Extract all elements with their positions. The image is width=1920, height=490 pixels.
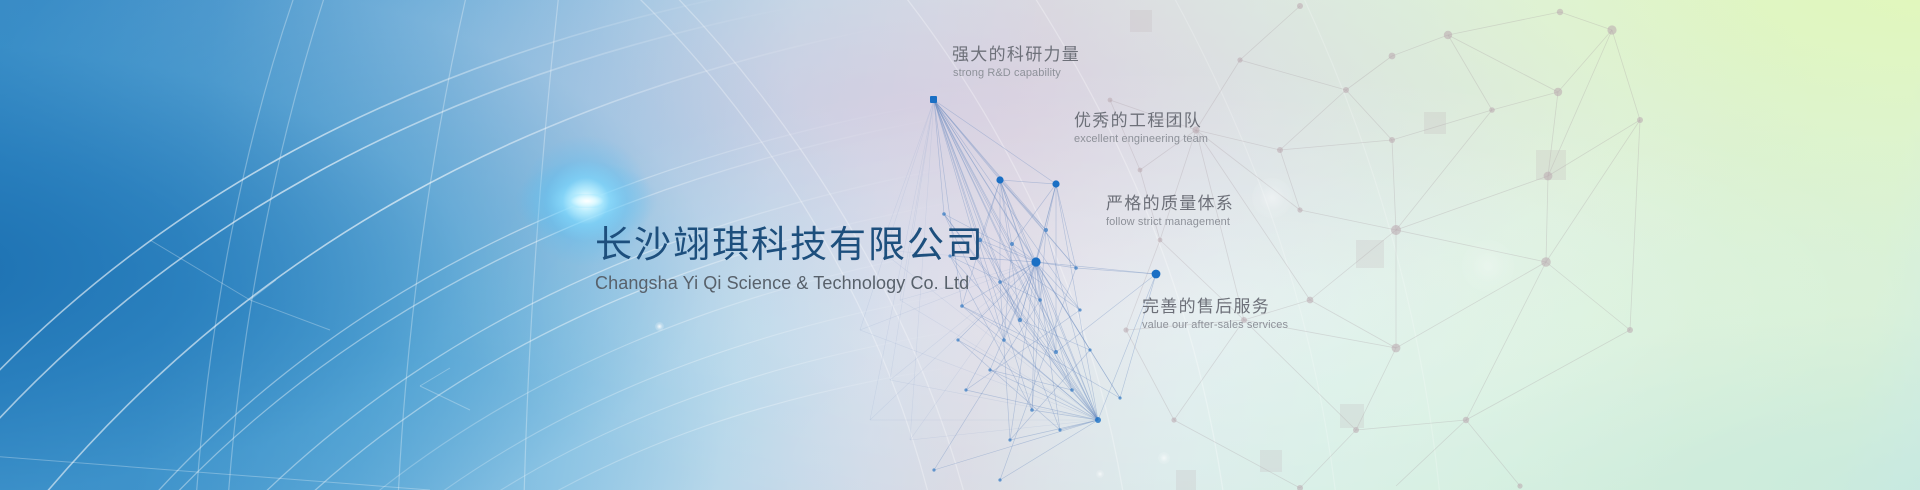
- feature-label-en: value our after-sales services: [1142, 318, 1288, 333]
- feature-label-cn: 强大的科研力量: [952, 44, 1080, 66]
- feature-item-rd: 强大的科研力量 strong R&D capability: [952, 44, 1080, 81]
- right-network-squares: [1130, 10, 1566, 490]
- feature-label-en: follow strict management: [1106, 215, 1234, 230]
- feature-label-cn: 优秀的工程团队: [1074, 110, 1208, 132]
- company-title-block: 长沙翊琪科技有限公司 Changsha Yi Qi Science & Tech…: [595, 224, 1015, 294]
- feature-label-cn: 完善的售后服务: [1142, 296, 1288, 318]
- company-name-cn: 长沙翊琪科技有限公司: [595, 224, 1015, 268]
- feature-label-en: strong R&D capability: [953, 66, 1080, 81]
- feature-item-service: 完善的售后服务 value our after-sales services: [1142, 296, 1288, 333]
- feature-item-team: 优秀的工程团队 excellent engineering team: [1074, 110, 1208, 147]
- feature-item-quality: 严格的质量体系 follow strict management: [1106, 193, 1234, 230]
- hero-banner: 长沙翊琪科技有限公司 Changsha Yi Qi Science & Tech…: [0, 0, 1920, 490]
- feature-label-cn: 严格的质量体系: [1106, 193, 1234, 215]
- company-name-en: Changsha Yi Qi Science & Technology Co. …: [595, 272, 1015, 294]
- feature-label-en: excellent engineering team: [1074, 132, 1208, 147]
